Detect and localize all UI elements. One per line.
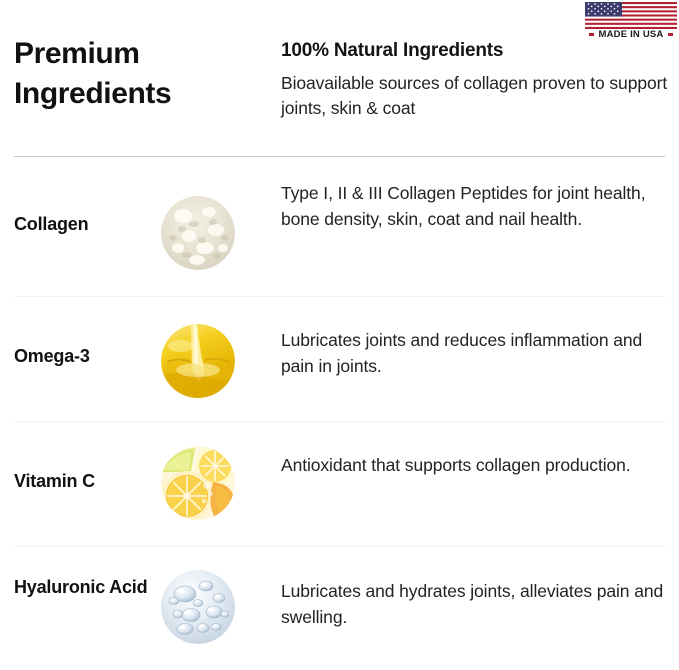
ingredients-table: Collagen bbox=[0, 0, 679, 670]
ingredient-description: Antioxidant that supports collagen produ… bbox=[281, 453, 673, 479]
citrus-fruit-image bbox=[161, 446, 235, 520]
ingredient-description: Type I, II & III Collagen Peptides for j… bbox=[281, 181, 673, 232]
header-divider bbox=[14, 156, 665, 157]
fish-oil-image bbox=[161, 324, 235, 398]
ingredient-description: Lubricates joints and reduces inflammati… bbox=[281, 328, 673, 379]
ingredient-row-omega-3: Omega-3 bbox=[0, 296, 679, 421]
collagen-powder-image bbox=[161, 196, 235, 270]
ingredient-row-vitamin-c: Vitamin C bbox=[0, 421, 679, 546]
water-droplets-image bbox=[161, 570, 235, 644]
ingredient-name: Omega-3 bbox=[14, 343, 159, 369]
ingredient-row-hyaluronic-acid: Hyaluronic Acid bbox=[0, 546, 679, 670]
ingredient-name: Hyaluronic Acid bbox=[14, 574, 159, 600]
ingredient-description: Lubricates and hydrates joints, alleviat… bbox=[281, 579, 673, 630]
ingredient-row-collagen: Collagen bbox=[0, 171, 679, 296]
ingredient-name: Collagen bbox=[14, 211, 159, 237]
ingredient-name: Vitamin C bbox=[14, 468, 159, 494]
